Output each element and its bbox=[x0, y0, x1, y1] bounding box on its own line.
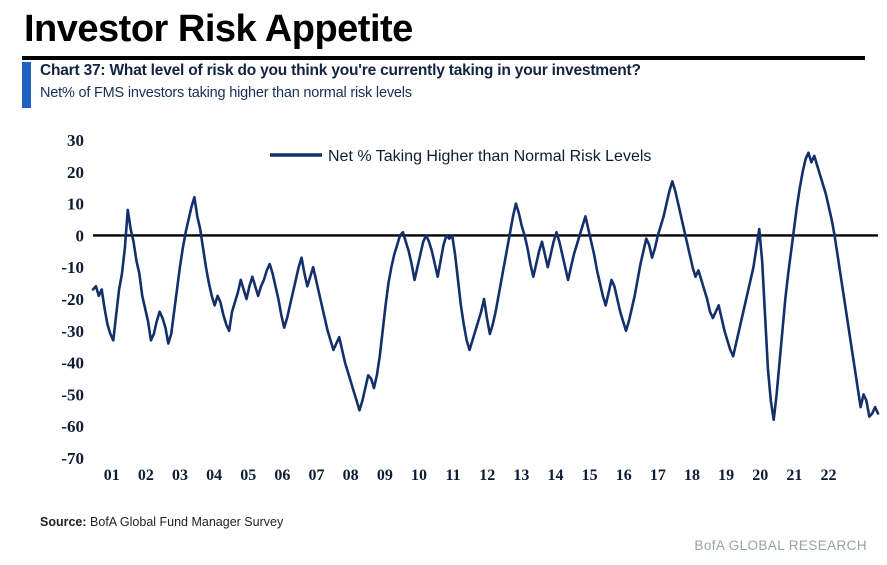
x-axis-tick-label: 09 bbox=[377, 467, 393, 484]
x-axis-tick-label: 15 bbox=[582, 467, 598, 484]
y-axis-tick-label: 20 bbox=[67, 163, 84, 182]
source-text: BofA Global Fund Manager Survey bbox=[90, 515, 283, 529]
y-axis-tick-label: -70 bbox=[61, 449, 84, 468]
x-axis-tick-label: 14 bbox=[547, 467, 563, 484]
x-axis-tick-label: 05 bbox=[240, 467, 256, 484]
x-axis-tick-label: 17 bbox=[650, 467, 666, 484]
watermark: BofA GLOBAL RESEARCH bbox=[694, 538, 867, 553]
y-axis-tick-label: 10 bbox=[67, 195, 84, 214]
y-axis-tick-label: -60 bbox=[61, 417, 84, 436]
y-axis-tick-label: -50 bbox=[61, 385, 84, 404]
x-axis-tick-label: 10 bbox=[411, 467, 427, 484]
y-axis-tick-label: 30 bbox=[67, 131, 84, 150]
x-axis-tick-label: 13 bbox=[513, 467, 529, 484]
x-axis-tick-label: 18 bbox=[684, 467, 700, 484]
x-axis-tick-label: 08 bbox=[343, 467, 359, 484]
x-axis-tick-label: 03 bbox=[172, 467, 188, 484]
legend-label: Net % Taking Higher than Normal Risk Lev… bbox=[328, 148, 651, 165]
y-axis-tick-label: -20 bbox=[61, 290, 84, 309]
x-axis-tick-label: 11 bbox=[446, 467, 461, 484]
x-axis-tick-label: 22 bbox=[821, 467, 837, 484]
data-line-net-pct-higher-risk bbox=[93, 153, 878, 420]
plot-area: 3020100-10-20-30-40-50-60-70010203040506… bbox=[0, 0, 887, 565]
x-axis-tick-label: 01 bbox=[104, 467, 120, 484]
x-axis-tick-label: 04 bbox=[206, 467, 222, 484]
x-axis-tick-label: 19 bbox=[718, 467, 734, 484]
x-axis-tick-label: 20 bbox=[752, 467, 768, 484]
y-axis-tick-label: -30 bbox=[61, 322, 84, 341]
x-axis-tick-label: 07 bbox=[309, 467, 325, 484]
source-note: Source: BofA Global Fund Manager Survey bbox=[40, 515, 283, 529]
x-axis-tick-label: 02 bbox=[138, 467, 154, 484]
chart-page: Investor Risk Appetite Chart 37: What le… bbox=[0, 0, 887, 565]
y-axis-tick-label: -40 bbox=[61, 354, 84, 373]
risk-appetite-line-chart: 3020100-10-20-30-40-50-60-70010203040506… bbox=[0, 0, 887, 565]
x-axis-tick-label: 06 bbox=[274, 467, 290, 484]
y-axis-tick-label: -10 bbox=[61, 258, 84, 277]
y-axis-tick-label: 0 bbox=[76, 226, 85, 245]
x-axis-tick-label: 21 bbox=[786, 467, 802, 484]
x-axis-tick-label: 16 bbox=[616, 467, 632, 484]
x-axis-tick-label: 12 bbox=[479, 467, 495, 484]
source-label: Source: bbox=[40, 515, 87, 529]
